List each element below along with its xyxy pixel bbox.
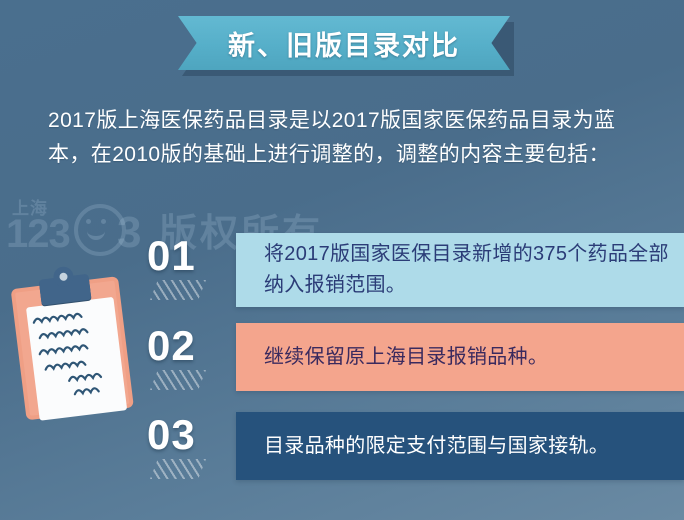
item-text: 将2017版国家医保目录新增的375个药品全部纳入报销范围。 <box>264 239 670 301</box>
item-number: 02 <box>147 322 231 370</box>
item-text: 目录品种的限定支付范围与国家接轨。 <box>264 431 609 462</box>
list-item: 02 继续保留原上海目录报销品种。 <box>0 320 684 394</box>
hatch-decoration <box>150 459 206 479</box>
item-number: 03 <box>147 411 231 459</box>
item-text: 继续保留原上海目录报销品种。 <box>264 342 548 373</box>
page-title: 新、旧版目录对比 <box>228 24 460 63</box>
hatch-decoration <box>150 280 206 300</box>
item-number: 01 <box>147 232 231 280</box>
item-box: 继续保留原上海目录报销品种。 <box>236 323 684 391</box>
hatch-decoration <box>150 370 206 390</box>
list-item: 01 将2017版国家医保目录新增的375个药品全部纳入报销范围。 <box>0 230 684 304</box>
list-item: 03 目录品种的限定支付范围与国家接轨。 <box>0 409 684 483</box>
item-box: 将2017版国家医保目录新增的375个药品全部纳入报销范围。 <box>236 233 684 307</box>
ribbon-shape: 新、旧版目录对比 <box>178 16 510 70</box>
title-ribbon: 新、旧版目录对比 <box>178 16 510 78</box>
item-box: 目录品种的限定支付范围与国家接轨。 <box>236 412 684 480</box>
watermark-city: 上海 <box>12 194 48 219</box>
lead-paragraph: 2017版上海医保药品目录是以2017版国家医保药品目录为蓝本，在2010版的基… <box>48 104 640 172</box>
infographic-poster: 上海 123 3 版权所有 新、旧版目录对比 2017版上海医保药品目录是以20… <box>0 0 684 520</box>
